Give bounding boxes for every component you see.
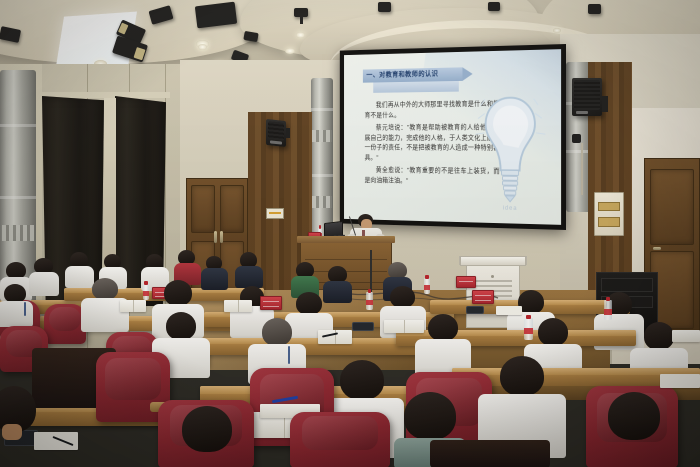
- paper-sheet: [34, 432, 78, 450]
- light-mount-arm: [300, 16, 303, 24]
- wall-speaker: [266, 119, 286, 147]
- downlight-icon: [553, 28, 561, 33]
- door-panel: [650, 169, 694, 245]
- stage-light: [488, 2, 500, 11]
- podium-top-surface: [460, 256, 526, 266]
- downlight-icon: [285, 48, 295, 54]
- paper-sheet: [660, 374, 700, 388]
- slide-surface: 一、对教育和教师的认识 我们再从中外的大师那里寻找教育是什么和教育不是什么。 蔡…: [344, 49, 561, 225]
- downlight-icon: [198, 44, 207, 50]
- notebook: [384, 320, 424, 333]
- auditorium-seat[interactable]: [44, 304, 86, 344]
- wall-distribution-box[interactable]: [594, 192, 624, 236]
- exit-sign: [266, 208, 284, 219]
- conduit-box: [572, 134, 581, 143]
- door-panel: [191, 185, 215, 233]
- auditorium-seat[interactable]: [290, 412, 390, 467]
- lightbulb-icon: [475, 89, 545, 210]
- wall-speaker: [572, 78, 602, 116]
- speaker-bracket: [286, 128, 290, 138]
- water-bottle[interactable]: [143, 284, 149, 300]
- name-placard: [456, 276, 476, 288]
- door-handle[interactable]: [653, 247, 661, 250]
- conduit-pipe: [581, 143, 583, 195]
- door-handle[interactable]: [214, 231, 217, 243]
- notebook: [120, 300, 146, 312]
- slide-title-banner-tail: [373, 81, 459, 93]
- water-bottle[interactable]: [424, 278, 430, 294]
- seat-back-shell: [430, 440, 550, 467]
- projection-screen: 一、对教育和教师的认识 我们再从中外的大师那里寻找教育是什么和教育不是什么。 蔡…: [340, 44, 566, 230]
- door-panel: [220, 185, 244, 233]
- downlight-icon: [296, 32, 305, 38]
- lightbulb-idea-illustration: idea: [475, 89, 545, 210]
- slide-graphic-caption: idea: [503, 206, 518, 212]
- speaker-bracket: [602, 96, 608, 112]
- water-bottle[interactable]: [604, 300, 612, 320]
- stage-light: [588, 4, 601, 14]
- door-handle[interactable]: [220, 231, 223, 243]
- slide-title: 一、对教育和教师的认识: [366, 69, 438, 82]
- paper-sheet: [496, 306, 522, 315]
- water-bottle[interactable]: [524, 318, 533, 340]
- water-bottle[interactable]: [366, 292, 373, 310]
- lecture-hall-photo: 一、对教育和教师的认识 我们再从中外的大师那里寻找教育是什么和教育不是什么。 蔡…: [0, 0, 700, 467]
- stage-light: [378, 2, 391, 12]
- notebook: [672, 330, 700, 342]
- mobile-phone[interactable]: [466, 306, 484, 314]
- name-placard: [260, 296, 282, 310]
- notebook: [224, 300, 252, 312]
- name-placard: [472, 290, 494, 304]
- mobile-phone[interactable]: [352, 322, 374, 331]
